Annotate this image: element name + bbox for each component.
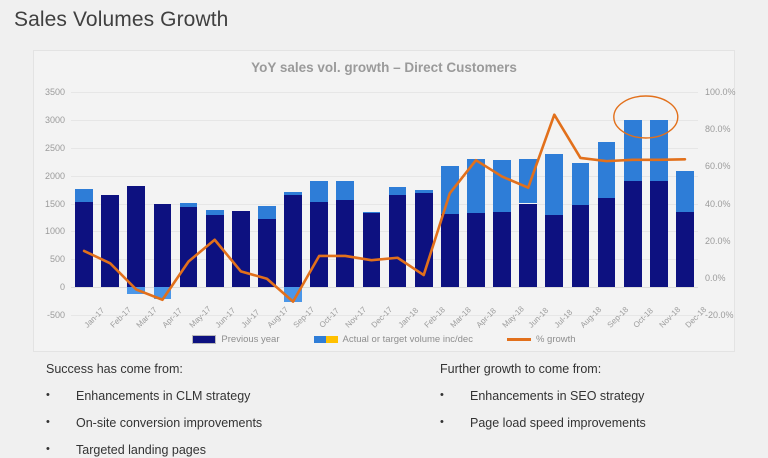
legend-item[interactable]: Previous year [192,334,279,345]
legend-swatch-previous-year [192,335,216,344]
legend-item[interactable]: Actual or target volume inc/dec [314,334,473,345]
bullet-marker: • [46,443,76,457]
chart-title: YoY sales vol. growth – Direct Customers [34,60,734,75]
highlight-ellipse-annotation [71,92,698,315]
bullet-marker: • [440,416,470,430]
chart-plot-area[interactable]: -5000500100015002000250030003500 -20.0%0… [71,92,698,315]
bullet-item: •Enhancements in CLM strategy [46,389,426,403]
bullet-text: Targeted landing pages [76,443,426,457]
bullet-text: On-site conversion improvements [76,416,426,430]
y-axis-tick-label: 2500 [45,143,65,153]
legend-item-label: Previous year [221,334,279,345]
legend-swatch-inc-dec [314,336,338,343]
highlight-ellipse-shape [614,96,678,138]
y-axis-tick-label: 0 [60,282,65,292]
y2-axis-tick-label: 20.0% [705,236,731,246]
y2-axis-tick-label: 60.0% [705,161,731,171]
legend-item-label: Actual or target volume inc/dec [343,334,473,345]
legend-item-label: % growth [536,334,576,345]
bullet-item: •On-site conversion improvements [46,416,426,430]
y-axis-tick-label: 3500 [45,87,65,97]
y2-axis-tick-label: 0.0% [705,273,726,283]
bullet-marker: • [440,389,470,403]
notes-column-right: Further growth to come from: •Enhancemen… [440,356,760,430]
chart-legend[interactable]: Previous yearActual or target volume inc… [34,334,734,345]
notes-left-bullets: •Enhancements in CLM strategy•On-site co… [46,389,426,457]
bullet-marker: • [46,389,76,403]
bullet-item: •Enhancements in SEO strategy [440,389,760,403]
chart-panel[interactable]: YoY sales vol. growth – Direct Customers… [33,50,735,352]
y2-axis-tick-label: 80.0% [705,124,731,134]
notes-column-left: Success has come from: •Enhancements in … [46,356,426,457]
bullet-marker: • [46,416,76,430]
bullet-item: •Targeted landing pages [46,443,426,457]
notes-left-heading: Success has come from: [46,362,426,376]
bullet-text: Page load speed improvements [470,416,760,430]
y2-axis-tick-label: -20.0% [705,310,734,320]
y-axis-tick-label: 3000 [45,115,65,125]
bullet-text: Enhancements in SEO strategy [470,389,760,403]
notes-right-bullets: •Enhancements in SEO strategy•Page load … [440,389,760,430]
y-axis-tick-label: 1000 [45,226,65,236]
bullet-text: Enhancements in CLM strategy [76,389,426,403]
bullet-item: •Page load speed improvements [440,416,760,430]
y2-axis-tick-label: 100.0% [705,87,736,97]
notes-right-heading: Further growth to come from: [440,362,760,376]
y-axis-tick-label: 1500 [45,199,65,209]
legend-item[interactable]: % growth [507,334,576,345]
notes-section: Success has come from: •Enhancements in … [0,356,768,458]
y-axis-tick-label: 2000 [45,171,65,181]
y-axis-tick-label: 500 [50,254,65,264]
y2-axis-tick-label: 40.0% [705,199,731,209]
slide-canvas: Sales Volumes Growth YoY sales vol. grow… [0,0,768,458]
y-axis-tick-label: -500 [47,310,65,320]
page-title: Sales Volumes Growth [14,8,228,32]
legend-swatch-growth-line [507,338,531,341]
